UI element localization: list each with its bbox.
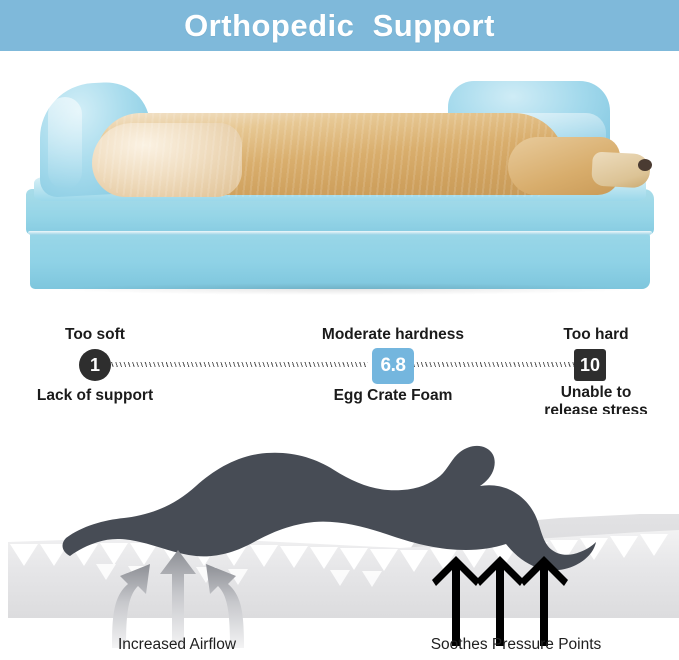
product-photo [0, 51, 679, 319]
airflow-caption: Increased Airflow [62, 636, 292, 654]
foam-cross-section-diagram [0, 414, 679, 660]
dog-photo-fur-texture [96, 113, 566, 197]
scale-dashed-line-left [100, 362, 368, 367]
product-photo-shadow [60, 283, 630, 295]
dog-photo-nose [638, 159, 652, 171]
hardness-scale: Too soft 1 Lack of support Moderate hard… [0, 322, 679, 414]
scale-hard-label-bottom-line1: Unable to [516, 384, 676, 402]
scale-soft-label-top: Too soft [20, 326, 170, 344]
scale-moderate-label-top: Moderate hardness [288, 326, 498, 344]
scale-hard-label-top: Too hard [520, 326, 672, 344]
scale-moderate-label-bottom: Egg Crate Foam [298, 387, 488, 405]
scale-soft-label-bottom: Lack of support [4, 387, 186, 405]
scale-dashed-line-right [414, 362, 574, 367]
bed-seam [28, 231, 652, 235]
pressure-caption: Soothes Pressure Points [376, 636, 656, 654]
scale-marker-hard: 10 [574, 349, 606, 381]
bed-base-lower-slab [30, 229, 650, 289]
page-title: Orthopedic Support [184, 8, 495, 44]
scale-marker-soft: 1 [79, 349, 111, 381]
scale-marker-moderate: 6.8 [372, 348, 414, 384]
pressure-arrows [432, 556, 568, 646]
bed-bolster-left-fold [48, 97, 82, 189]
header-banner: Orthopedic Support [0, 0, 679, 51]
